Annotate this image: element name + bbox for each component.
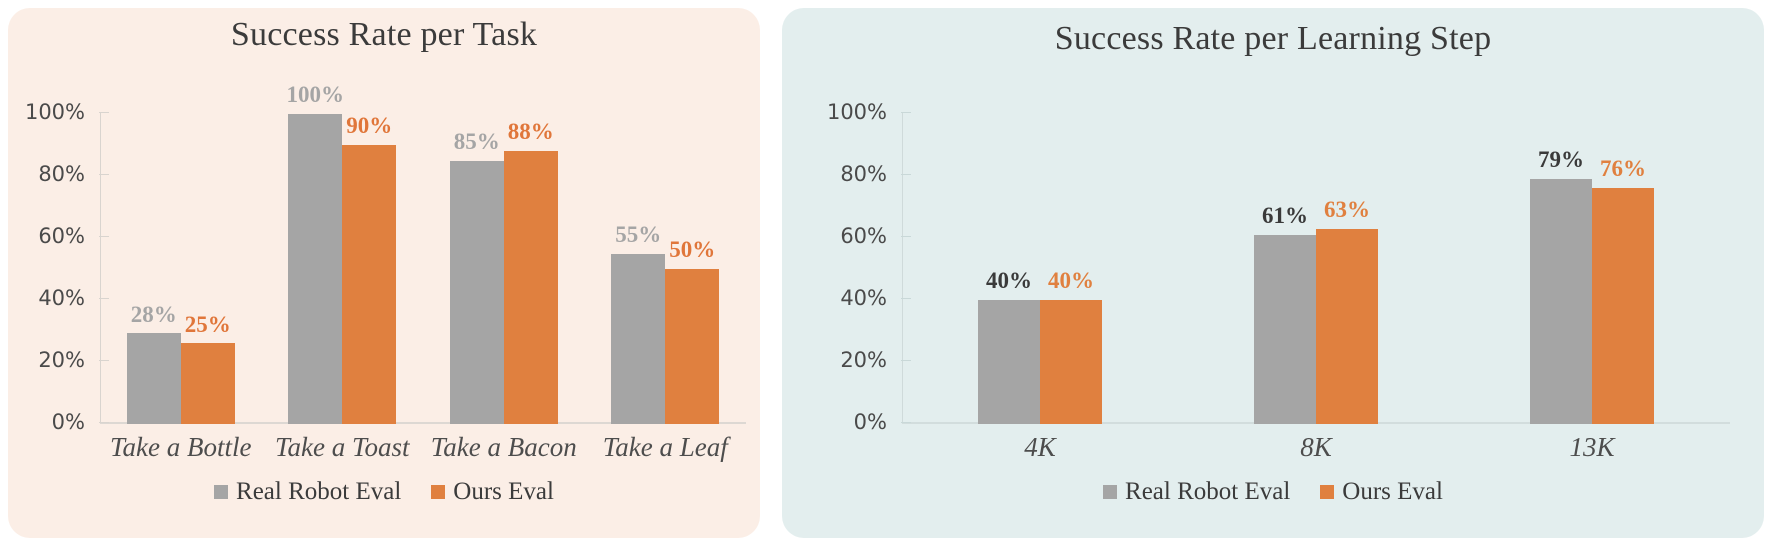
bar-slot-ours: 76% (1592, 96, 1654, 424)
bar-group: 40% 40% (902, 96, 1178, 424)
bar-value-label: 100% (287, 82, 345, 108)
legend-swatch-icon-real (1103, 485, 1117, 499)
bar-slot-real: 85% (450, 96, 504, 424)
legend-swatch-icon-real (214, 485, 228, 499)
bar-slot-ours: 88% (504, 96, 558, 424)
y-tick-label-40: 40% (840, 286, 887, 310)
x-label-take-a-toast: Take a Toast (262, 432, 424, 463)
bar-value-label: 55% (615, 222, 661, 248)
bar-group: 79% 76% (1454, 96, 1730, 424)
bar-slot-real: 61% (1254, 96, 1316, 424)
bar-value-label: 40% (986, 268, 1032, 294)
legend-item-ours-eval[interactable]: Ours Eval (431, 478, 554, 506)
bar-slot-ours: 40% (1040, 96, 1102, 424)
y-tick-label-100: 100% (25, 100, 85, 124)
charts-container: Success Rate per Task 100% 80% 60% 40% 2… (0, 0, 1774, 550)
bar-group: 28% 25% (100, 96, 262, 424)
y-tick-label-60: 60% (840, 224, 887, 248)
bar-value-label: 28% (131, 302, 177, 328)
bar-value-label: 40% (1048, 268, 1094, 294)
plot-area-left: 100% 80% 60% 40% 20% 0% (100, 96, 746, 424)
bar-group: 61% 63% (1178, 96, 1454, 424)
bar-slot-real: 55% (611, 96, 665, 424)
bar-value-label: 85% (454, 129, 500, 155)
y-tick-label-80: 80% (840, 162, 887, 186)
bar-real-robot-eval[interactable] (1530, 179, 1592, 424)
legend-item-ours-eval[interactable]: Ours Eval (1320, 478, 1443, 506)
bar-real-robot-eval[interactable] (978, 300, 1040, 424)
legend-swatch-icon-ours (431, 485, 445, 499)
legend-label-real: Real Robot Eval (1125, 478, 1290, 506)
chart-title-left: Success Rate per Task (8, 16, 760, 54)
y-tick-label-80: 80% (38, 162, 85, 186)
bar-ours-eval[interactable] (342, 145, 396, 424)
bar-real-robot-eval[interactable] (127, 333, 181, 424)
bar-value-label: 61% (1262, 203, 1308, 229)
bar-ours-eval[interactable] (1040, 300, 1102, 424)
x-label-take-a-bottle: Take a Bottle (100, 432, 262, 463)
y-tick-label-60: 60% (38, 224, 85, 248)
legend-item-real-robot-eval[interactable]: Real Robot Eval (1103, 478, 1290, 506)
bar-slot-ours: 50% (665, 96, 719, 424)
chart-title-right: Success Rate per Learning Step (782, 20, 1764, 58)
bar-slot-real: 79% (1530, 96, 1592, 424)
bar-value-label: 25% (185, 312, 231, 338)
bar-slot-ours: 63% (1316, 96, 1378, 424)
y-tick-label-100: 100% (827, 100, 887, 124)
legend-swatch-icon-ours (1320, 485, 1334, 499)
bar-slot-ours: 25% (181, 96, 235, 424)
bar-ours-eval[interactable] (1316, 229, 1378, 424)
legend-label-ours: Ours Eval (1342, 478, 1443, 506)
bar-slot-ours: 90% (342, 96, 396, 424)
bar-slot-real: 28% (127, 96, 181, 424)
bar-real-robot-eval[interactable] (450, 161, 504, 425)
bar-ours-eval[interactable] (181, 343, 235, 424)
bar-group: 85% 88% (423, 96, 585, 424)
legend-right: Real Robot Eval Ours Eval (782, 478, 1764, 506)
bar-value-label: 76% (1600, 156, 1646, 182)
legend-label-real: Real Robot Eval (236, 478, 401, 506)
chart-panel-success-rate-per-learning-step: Success Rate per Learning Step 100% 80% … (782, 8, 1764, 538)
plot-area-right: 100% 80% 60% 40% 20% 0% (902, 96, 1730, 424)
y-tick-label-0: 0% (52, 410, 85, 434)
bar-value-label: 50% (669, 237, 715, 263)
bar-real-robot-eval[interactable] (611, 254, 665, 425)
x-axis-labels-left: Take a Bottle Take a Toast Take a Bacon … (100, 432, 746, 463)
x-label-take-a-leaf: Take a Leaf (585, 432, 747, 463)
chart-panel-success-rate-per-task: Success Rate per Task 100% 80% 60% 40% 2… (8, 8, 760, 538)
bar-value-label: 90% (346, 113, 392, 139)
bar-slot-real: 40% (978, 96, 1040, 424)
legend-item-real-robot-eval[interactable]: Real Robot Eval (214, 478, 401, 506)
bar-groups-left: 28% 25% 100% 90% (100, 96, 746, 424)
x-axis-labels-right: 4K 8K 13K (902, 432, 1730, 463)
legend-left: Real Robot Eval Ours Eval (8, 478, 760, 506)
y-tick-label-0: 0% (854, 410, 887, 434)
y-tick-label-20: 20% (840, 348, 887, 372)
bar-groups-right: 40% 40% 61% 63% (902, 96, 1730, 424)
legend-label-ours: Ours Eval (453, 478, 554, 506)
y-tick-label-40: 40% (38, 286, 85, 310)
x-label-4k: 4K (902, 432, 1178, 463)
bar-value-label: 79% (1538, 147, 1584, 173)
x-label-take-a-bacon: Take a Bacon (423, 432, 585, 463)
bar-group: 100% 90% (262, 96, 424, 424)
bar-slot-real: 100% (288, 96, 342, 424)
bar-group: 55% 50% (585, 96, 747, 424)
bar-ours-eval[interactable] (665, 269, 719, 424)
bar-ours-eval[interactable] (1592, 188, 1654, 424)
bar-value-label: 63% (1324, 197, 1370, 223)
x-label-13k: 13K (1454, 432, 1730, 463)
bar-ours-eval[interactable] (504, 151, 558, 424)
bar-real-robot-eval[interactable] (288, 114, 342, 424)
y-tick-label-20: 20% (38, 348, 85, 372)
bar-value-label: 88% (508, 119, 554, 145)
x-label-8k: 8K (1178, 432, 1454, 463)
bar-real-robot-eval[interactable] (1254, 235, 1316, 424)
